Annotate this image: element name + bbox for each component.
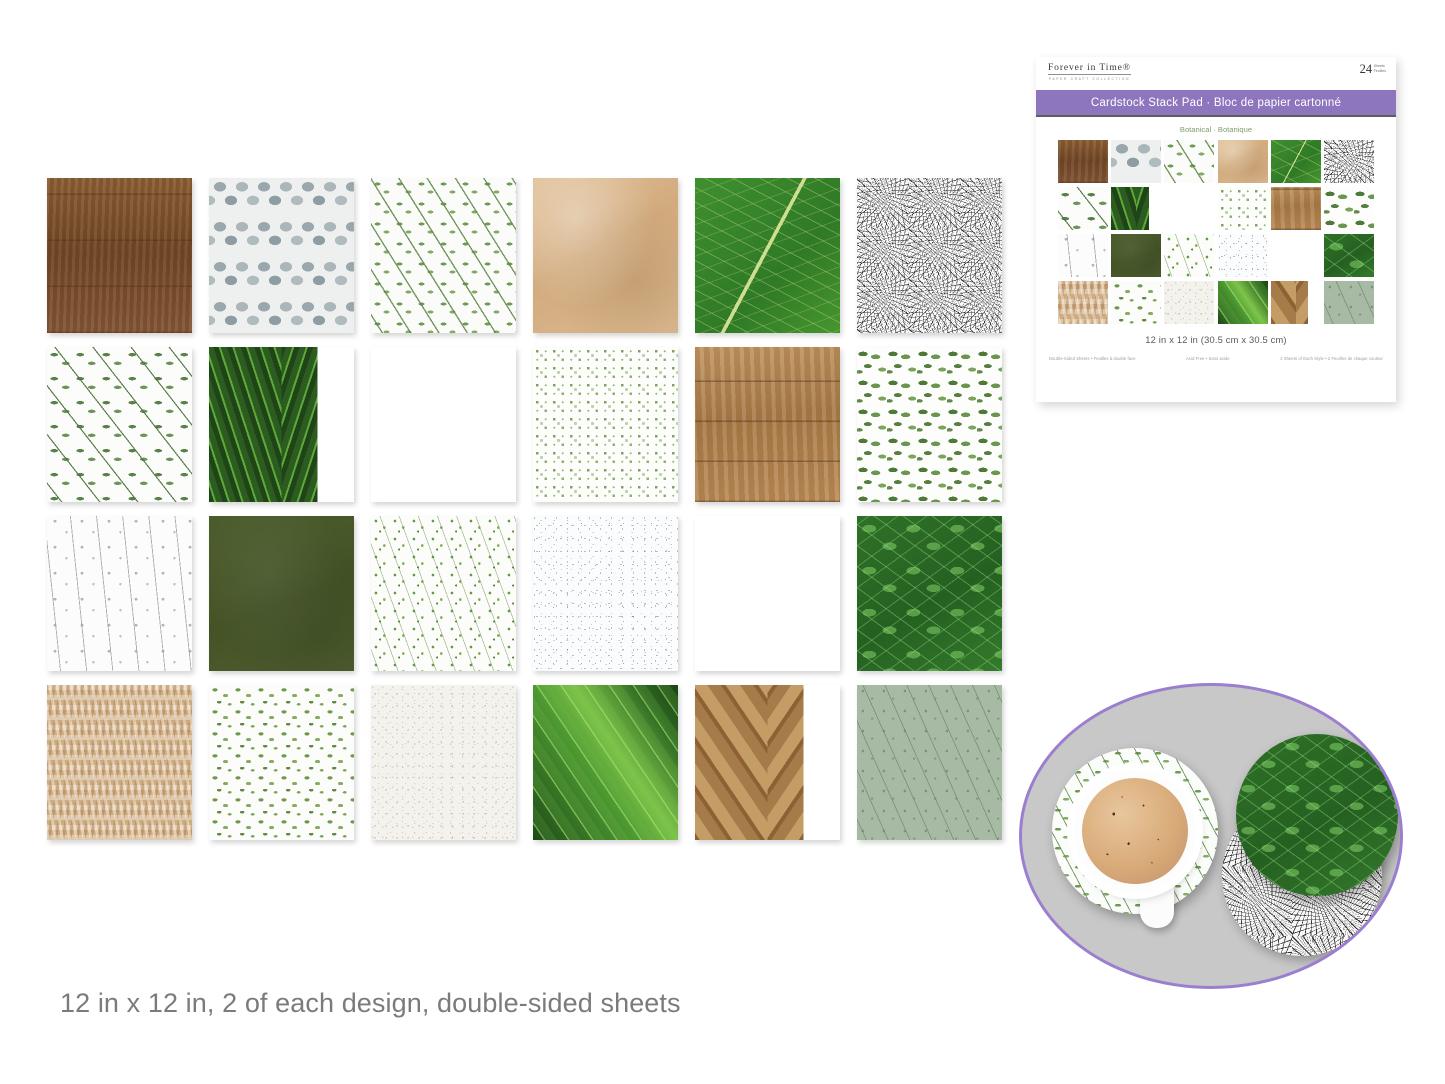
package-thumb-green-leaf-macro-veins bbox=[1271, 140, 1321, 183]
swatch-dark-green-leaf-silhouette bbox=[857, 516, 1002, 671]
package-thumb-vertical-wood-planks bbox=[1164, 187, 1214, 230]
swatch-kraft-parchment-texture bbox=[533, 178, 678, 333]
swatch-woven-rattan bbox=[47, 685, 192, 840]
swatch-black-white-floral-lineart bbox=[857, 178, 1002, 333]
swatch-grey-ginkgo-leaves bbox=[209, 178, 354, 333]
package-thumb-horizontal-wood-planks bbox=[1271, 187, 1321, 230]
package-thumb-watercolor-olive-branches bbox=[1058, 187, 1108, 230]
swatch-green-leaf-macro-veins bbox=[695, 178, 840, 333]
package-thumbnail-grid bbox=[1058, 140, 1374, 324]
package-thumb-green-sprig-ditsy bbox=[1111, 281, 1161, 324]
package-thumb-green-leafy-branches bbox=[1164, 140, 1214, 183]
package-thumb-dark-green-leaf-silhouette bbox=[1324, 234, 1374, 277]
package-title: Cardstock Stack Pad · Bloc de papier car… bbox=[1091, 97, 1341, 109]
swatch-banana-leaf-macro bbox=[533, 685, 678, 840]
coffee-bubbles bbox=[1082, 778, 1188, 884]
package-thumb-palm-frond-chevron bbox=[1111, 187, 1161, 230]
swatch-beige-speckled-linen bbox=[371, 685, 516, 840]
swatch-green-damask-lace bbox=[533, 347, 678, 502]
package-header: Forever in Time® PAPER CRAFT COLLECTION … bbox=[1036, 57, 1396, 90]
lifestyle-photo-inset bbox=[1019, 683, 1403, 989]
package-thumb-black-white-floral-lineart bbox=[1324, 140, 1374, 183]
package-thumb-kraft-parchment-texture bbox=[1218, 140, 1268, 183]
footer-double-sided: Double-Sided Sheets • Feuilles à double … bbox=[1049, 356, 1136, 361]
brand-logo: Forever in Time® PAPER CRAFT COLLECTION bbox=[1048, 63, 1131, 81]
green-leaf-coaster bbox=[1236, 734, 1398, 896]
sheets-label-fr: Feuilles bbox=[1374, 69, 1386, 73]
package-thumb-green-damask-lace bbox=[1218, 187, 1268, 230]
package-thumb-dense-green-foliage bbox=[1324, 187, 1374, 230]
package-thumb-white-speckled-ditsy bbox=[1218, 234, 1268, 277]
swatch-solid-olive-green bbox=[209, 516, 354, 671]
swatch-vertical-wood-planks bbox=[371, 347, 516, 502]
footer-acid-free: Acid Free • Sans acide bbox=[1186, 356, 1230, 361]
package-thumb-rustic-wood-planks bbox=[1271, 234, 1321, 277]
package-thumb-herringbone-wood bbox=[1271, 281, 1321, 324]
swatch-white-speckled-ditsy bbox=[533, 516, 678, 671]
product-package-label: Forever in Time® PAPER CRAFT COLLECTION … bbox=[1036, 57, 1396, 402]
brand-tagline: PAPER CRAFT COLLECTION bbox=[1048, 77, 1131, 81]
sheets-count-labels: Sheets Feuilles bbox=[1374, 63, 1386, 75]
package-title-banner: Cardstock Stack Pad · Bloc de papier car… bbox=[1036, 90, 1396, 117]
brand-name: Forever in Time® bbox=[1048, 63, 1131, 75]
footer-sheets-per-style: 2 Sheets of Each Style • 2 Feuilles de c… bbox=[1280, 356, 1383, 361]
package-thumb-beige-speckled-linen bbox=[1164, 281, 1214, 324]
swatch-dark-wood-planks bbox=[47, 178, 192, 333]
package-thumb-grey-botanical-lineart bbox=[1058, 234, 1108, 277]
package-thumb-solid-olive-green bbox=[1111, 234, 1161, 277]
package-thumb-grey-ginkgo-leaves bbox=[1111, 140, 1161, 183]
package-footer: Double-Sided Sheets • Feuilles à double … bbox=[1036, 345, 1396, 361]
swatch-grey-botanical-lineart bbox=[47, 516, 192, 671]
swatch-horizontal-wood-planks bbox=[695, 347, 840, 502]
swatch-sage-green-fern bbox=[857, 685, 1002, 840]
coffee-cup bbox=[1074, 770, 1196, 892]
package-thumb-green-fern-sprigs bbox=[1164, 234, 1214, 277]
swatch-watercolor-olive-branches bbox=[47, 347, 192, 502]
package-size-text: 12 in x 12 in (30.5 cm x 30.5 cm) bbox=[1036, 324, 1396, 345]
package-thumb-dark-wood-planks bbox=[1058, 140, 1108, 183]
product-caption: 12 in x 12 in, 2 of each design, double-… bbox=[60, 988, 681, 1019]
swatch-rustic-wood-planks bbox=[695, 516, 840, 671]
swatch-green-sprig-ditsy bbox=[209, 685, 354, 840]
sheets-label-en: Sheets bbox=[1374, 64, 1385, 68]
sheets-count: 24 bbox=[1360, 63, 1373, 76]
swatch-palm-frond-chevron bbox=[209, 347, 354, 502]
sheets-count-badge: 24 Sheets Feuilles bbox=[1360, 63, 1386, 76]
package-thumb-woven-rattan bbox=[1058, 281, 1108, 324]
coffee-crema bbox=[1082, 778, 1188, 884]
swatch-green-fern-sprigs bbox=[371, 516, 516, 671]
swatch-dense-green-foliage bbox=[857, 347, 1002, 502]
package-thumb-sage-green-fern bbox=[1324, 281, 1374, 324]
swatch-green-leafy-branches bbox=[371, 178, 516, 333]
paper-swatch-grid bbox=[47, 178, 1002, 860]
package-theme-name: Botanical · Botanique bbox=[1036, 117, 1396, 140]
package-thumb-banana-leaf-macro bbox=[1218, 281, 1268, 324]
swatch-herringbone-wood bbox=[695, 685, 840, 840]
